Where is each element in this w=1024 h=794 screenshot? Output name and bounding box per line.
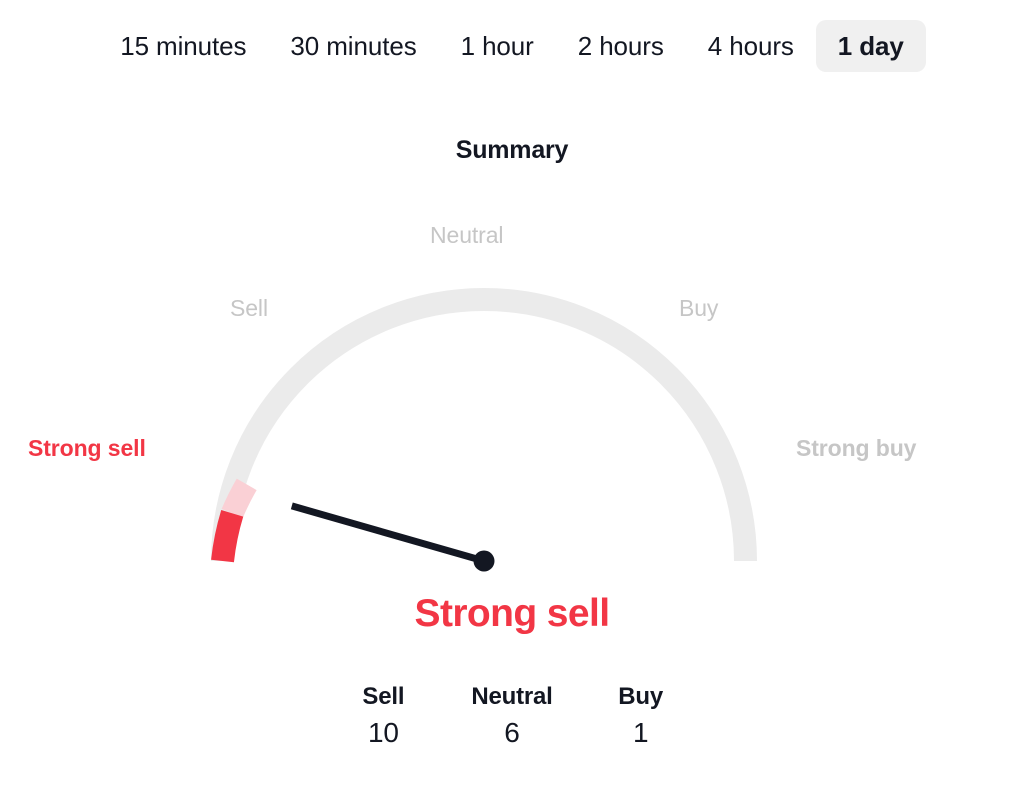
gauge-needle-pivot bbox=[474, 551, 495, 572]
count-cell-neutral: Neutral 6 bbox=[471, 684, 552, 756]
gauge-needle bbox=[292, 506, 484, 561]
gauge-active-glow bbox=[232, 484, 246, 513]
signal-counts: Sell 10 Neutral 6 Buy 1 bbox=[0, 684, 1024, 756]
tab-1-hour[interactable]: 1 hour bbox=[439, 20, 556, 72]
gauge-label-strong-buy: Strong buy bbox=[796, 437, 916, 460]
tab-1-day[interactable]: 1 day bbox=[816, 20, 926, 72]
gauge-verdict: Strong sell bbox=[0, 592, 1024, 636]
summary-gauge: Strong sell Sell Neutral Buy Strong buy bbox=[0, 0, 1024, 794]
gauge-label-neutral: Neutral bbox=[430, 224, 503, 247]
count-value-buy: 1 bbox=[611, 711, 671, 756]
count-value-neutral: 6 bbox=[471, 711, 552, 756]
tab-15-minutes[interactable]: 15 minutes bbox=[98, 20, 268, 72]
gauge-label-buy: Buy bbox=[679, 297, 718, 320]
gauge-track bbox=[223, 299, 746, 561]
count-cell-buy: Buy 1 bbox=[611, 684, 671, 756]
count-label-neutral: Neutral bbox=[471, 684, 552, 711]
gauge-active-segment bbox=[223, 513, 233, 561]
page-title: Summary bbox=[0, 136, 1024, 165]
count-value-sell: 10 bbox=[353, 711, 413, 756]
gauge-label-sell: Sell bbox=[230, 297, 268, 320]
gauge-label-strong-sell: Strong sell bbox=[28, 437, 146, 460]
count-cell-sell: Sell 10 bbox=[353, 684, 413, 756]
count-label-buy: Buy bbox=[611, 684, 671, 711]
count-label-sell: Sell bbox=[353, 684, 413, 711]
gauge-svg bbox=[0, 0, 1024, 794]
tab-30-minutes[interactable]: 30 minutes bbox=[268, 20, 438, 72]
tab-2-hours[interactable]: 2 hours bbox=[556, 20, 686, 72]
tab-4-hours[interactable]: 4 hours bbox=[686, 20, 816, 72]
timeframe-tabs: 15 minutes 30 minutes 1 hour 2 hours 4 h… bbox=[0, 0, 1024, 92]
